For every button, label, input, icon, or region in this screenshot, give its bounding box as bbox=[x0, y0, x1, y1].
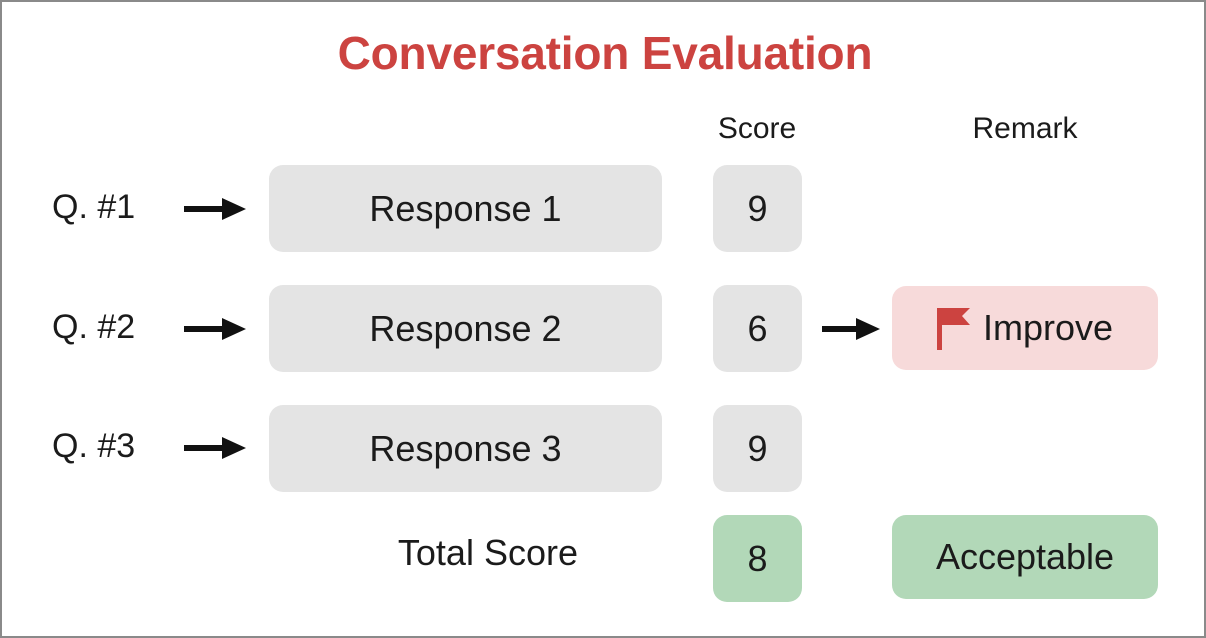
total-score-box[interactable]: 8 bbox=[713, 515, 802, 602]
arrow-right-icon bbox=[180, 433, 250, 463]
question-label-3: Q. #3 bbox=[52, 427, 180, 466]
score-box-3[interactable]: 9 bbox=[713, 405, 802, 492]
arrow-right-icon bbox=[180, 194, 250, 224]
remark-badge-improve[interactable]: Improve bbox=[892, 286, 1158, 370]
arrow-right-icon bbox=[180, 314, 250, 344]
flag-icon bbox=[937, 308, 971, 350]
remark-badge-label: Acceptable bbox=[936, 536, 1114, 578]
score-box-1[interactable]: 9 bbox=[713, 165, 802, 252]
question-label-1: Q. #1 bbox=[52, 188, 180, 227]
arrow-right-icon bbox=[820, 314, 882, 344]
response-box-3[interactable]: Response 3 bbox=[269, 405, 662, 492]
remark-badge-acceptable[interactable]: Acceptable bbox=[892, 515, 1158, 599]
score-box-2[interactable]: 6 bbox=[713, 285, 802, 372]
column-header-score: Score bbox=[683, 112, 831, 146]
total-score-label: Total Score bbox=[262, 532, 578, 574]
page-title: Conversation Evaluation bbox=[2, 26, 1206, 80]
question-label-2: Q. #2 bbox=[52, 308, 180, 347]
remark-badge-label: Improve bbox=[983, 307, 1113, 349]
evaluation-diagram: Conversation Evaluation Score Remark Q. … bbox=[0, 0, 1206, 638]
response-box-2[interactable]: Response 2 bbox=[269, 285, 662, 372]
column-header-remark: Remark bbox=[892, 112, 1158, 146]
response-box-1[interactable]: Response 1 bbox=[269, 165, 662, 252]
